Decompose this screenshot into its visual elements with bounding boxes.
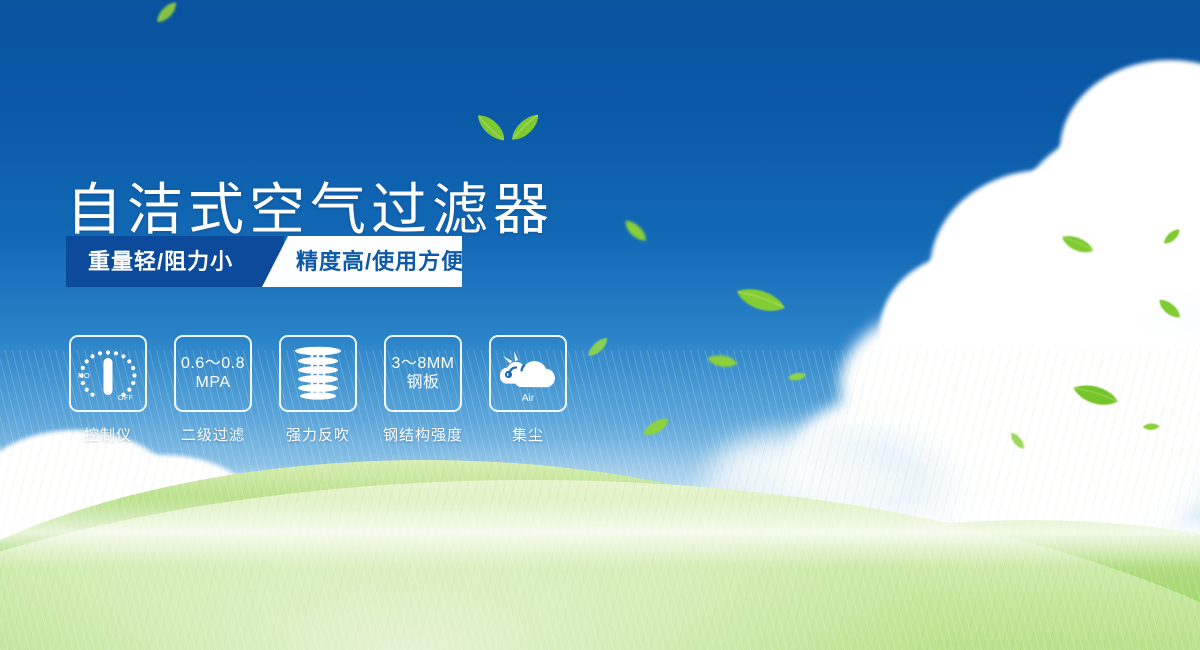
banner-content: 自洁式空气过滤器 重量轻/阻力小 精度高/使用方便 <box>0 0 1200 650</box>
feature-item-dust[interactable]: Air 集尘 <box>488 335 568 445</box>
steel-plate-text-icon: 3～8MM 钢板 <box>392 355 455 393</box>
feature-label: 控制仪 <box>84 424 132 445</box>
subtitle-text-left: 重量轻/阻力小 <box>88 236 233 287</box>
feature-icon-box: 3～8MM 钢板 <box>384 335 462 412</box>
coil-spring-icon <box>287 344 349 404</box>
feature-item-pressure[interactable]: 0.6～0.8 MPA 二级过滤 <box>173 335 253 445</box>
feature-icon-box: NO OFF <box>69 335 147 412</box>
steel-thickness: 3～8MM <box>392 355 455 372</box>
feature-icon-box: 0.6～0.8 MPA <box>174 335 252 412</box>
feature-label: 钢结构强度 <box>383 424 463 445</box>
subtitle-text-right: 精度高/使用方便 <box>296 236 464 287</box>
feature-item-controller[interactable]: NO OFF 控制仪 <box>68 335 148 445</box>
air-caption: Air <box>522 393 535 404</box>
feature-label: 强力反吹 <box>286 424 350 445</box>
hero-banner: 自洁式空气过滤器 重量轻/阻力小 精度高/使用方便 <box>0 0 1200 650</box>
steel-material: 钢板 <box>392 374 455 393</box>
air-cloud-icon: Air <box>494 343 562 405</box>
feature-item-backblow[interactable]: 强力反吹 <box>278 335 358 445</box>
feature-label: 二级过滤 <box>181 424 245 445</box>
gauge-controller-icon: NO OFF <box>73 341 143 407</box>
feature-list: NO OFF 控制仪 0.6～0.8 MPA 二级过滤 <box>68 335 568 445</box>
page-title: 自洁式空气过滤器 <box>66 182 554 238</box>
pressure-unit: MPA <box>181 374 245 393</box>
svg-text:NO: NO <box>78 371 90 380</box>
feature-icon-box <box>279 335 357 412</box>
pressure-value: 0.6～0.8 <box>181 355 245 372</box>
pressure-text-icon: 0.6～0.8 MPA <box>181 355 245 393</box>
feature-item-steel[interactable]: 3～8MM 钢板 钢结构强度 <box>383 335 463 445</box>
feature-label: 集尘 <box>512 424 544 445</box>
feature-icon-box: Air <box>489 335 567 412</box>
subtitle-bar: 重量轻/阻力小 精度高/使用方便 <box>66 236 462 287</box>
svg-text:OFF: OFF <box>118 395 133 402</box>
